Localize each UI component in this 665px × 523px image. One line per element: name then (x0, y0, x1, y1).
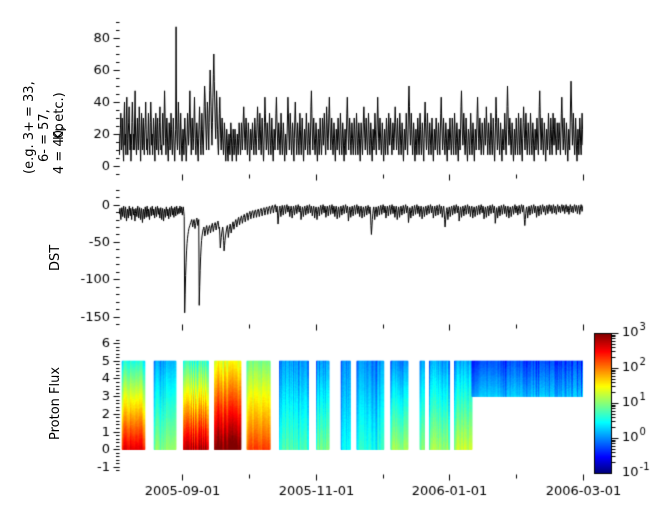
proton-flux-figure: Kp (e.g. 3+ = 33, 6- = 57, 4 = 40, etc.)… (0, 0, 665, 523)
plot-canvas (0, 0, 665, 523)
